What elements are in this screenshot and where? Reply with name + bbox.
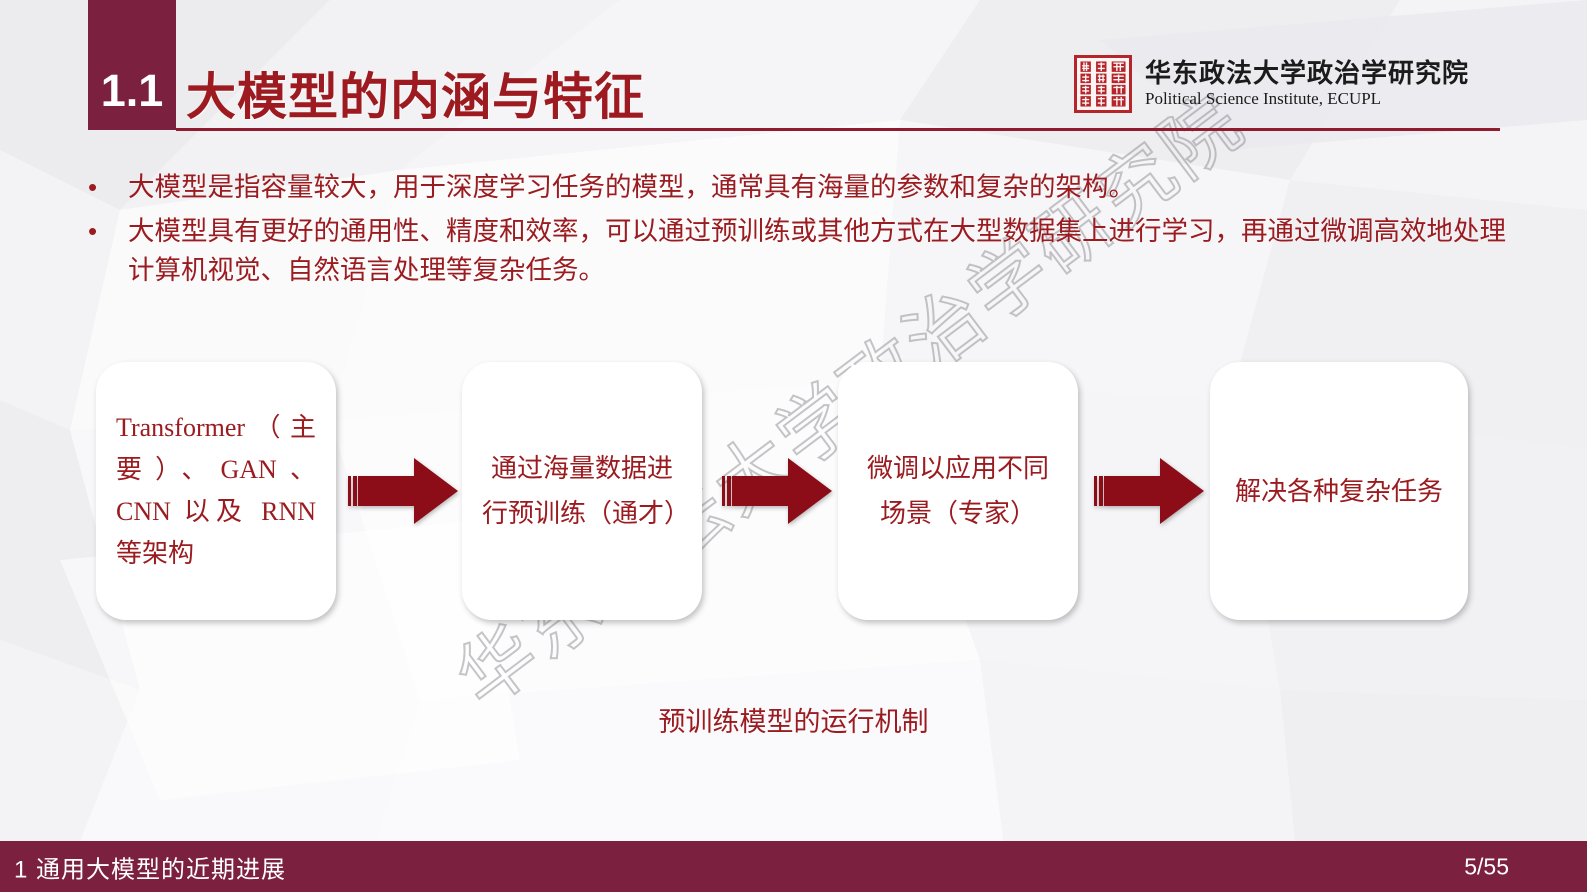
flow-box-pretraining: 通过海量数据进行预训练（通才） <box>462 362 702 620</box>
bullet-item: • 大模型是指容量较大，用于深度学习任务的模型，通常具有海量的参数和复杂的架构。 <box>88 168 1508 207</box>
institute-name-en: Political Science Institute, ECUPL <box>1145 90 1469 108</box>
section-number-badge: 1.1 <box>88 0 176 130</box>
page-indicator: 5/55 <box>1464 853 1509 880</box>
process-flow-diagram: Transformer（主要）、GAN、CNN 以及 RNN 等架构 通过海量数… <box>0 362 1587 622</box>
bullet-marker-icon: • <box>88 212 128 290</box>
institute-logo: 华东政法大学政治学研究院 Political Science Institute… <box>1074 55 1469 113</box>
flow-box-tasks: 解决各种复杂任务 <box>1210 362 1468 620</box>
right-block-arrow-icon <box>1094 456 1206 526</box>
bullet-item: • 大模型具有更好的通用性、精度和效率，可以通过预训练或其他方式在大型数据集上进… <box>88 212 1508 290</box>
footer-section-label: 1 通用大模型的近期进展 <box>14 849 286 884</box>
flow-box-architecture: Transformer（主要）、GAN、CNN 以及 RNN 等架构 <box>96 362 336 620</box>
institute-name-cn: 华东政法大学政治学研究院 <box>1145 59 1469 87</box>
bullet-marker-icon: • <box>88 168 128 207</box>
flow-box-text: 通过海量数据进行预训练（通才） <box>482 446 682 535</box>
slide: 华东政法大学政治学研究院 1.1 大模型的内涵与特征 <box>0 0 1587 892</box>
bullet-list: • 大模型是指容量较大，用于深度学习任务的模型，通常具有海量的参数和复杂的架构。… <box>88 168 1508 291</box>
flow-box-text: 解决各种复杂任务 <box>1230 469 1448 514</box>
page-title: 大模型的内涵与特征 <box>186 57 645 129</box>
bullet-text: 大模型具有更好的通用性、精度和效率，可以通过预训练或其他方式在大型数据集上进行学… <box>128 212 1508 290</box>
diagram-caption: 预训练模型的运行机制 <box>0 700 1587 739</box>
flow-box-finetuning: 微调以应用不同场景（专家） <box>838 362 1078 620</box>
flow-box-text: Transformer（主要）、GAN、CNN 以及 RNN 等架构 <box>116 407 316 575</box>
right-block-arrow-icon <box>722 456 834 526</box>
bullet-text: 大模型是指容量较大，用于深度学习任务的模型，通常具有海量的参数和复杂的架构。 <box>128 168 1508 207</box>
footer-bar: 1 通用大模型的近期进展 5/55 <box>0 841 1587 892</box>
red-seal-icon <box>1074 55 1132 113</box>
right-block-arrow-icon <box>348 456 460 526</box>
flow-box-text: 微调以应用不同场景（专家） <box>858 446 1058 535</box>
